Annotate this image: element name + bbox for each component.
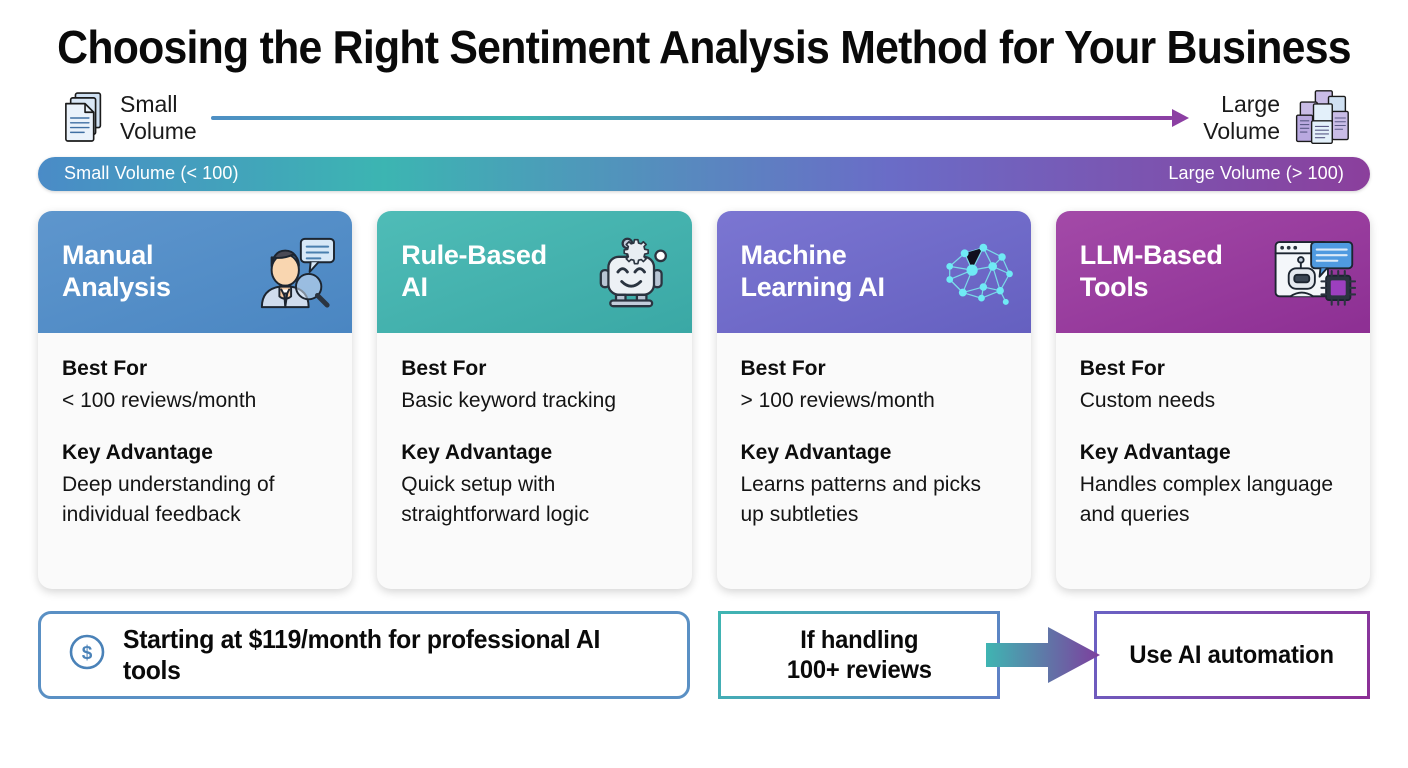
- best-for-label: Best For: [62, 357, 328, 381]
- svg-text:$: $: [82, 643, 93, 664]
- pricing-callout[interactable]: $ Starting at $119/month for professiona…: [38, 611, 690, 699]
- card-body: Best For Custom needs Key Advantage Hand…: [1056, 333, 1370, 589]
- key-advantage-label: Key Advantage: [1080, 441, 1346, 465]
- spectrum-left-endcap: Small Volume: [62, 90, 197, 146]
- documents-small-stack-icon: [62, 90, 110, 146]
- card-header: Rule-Based AI: [377, 211, 691, 333]
- spectrum-arrow: [211, 108, 1190, 128]
- best-for-label: Best For: [741, 357, 1007, 381]
- volume-bar-right-label: Large Volume (> 100): [1168, 163, 1344, 184]
- pricing-text: Starting at $119/month for professional …: [123, 624, 634, 686]
- flow-result-text: Use AI automation: [1130, 640, 1334, 670]
- card-body: Best For Basic keyword tracking Key Adva…: [377, 333, 691, 589]
- chatbot-window-chip-icon: [1270, 231, 1356, 313]
- robot-gear-icon: [592, 231, 678, 313]
- arrow-head-icon: [1172, 109, 1189, 127]
- card-title: LLM-Based Tools: [1080, 240, 1223, 304]
- spectrum-right-endcap: Large Volume: [1203, 87, 1352, 149]
- card-title: Rule-Based AI: [401, 240, 547, 304]
- card-header: Manual Analysis: [38, 211, 352, 333]
- card-body: Best For > 100 reviews/month Key Advanta…: [717, 333, 1031, 589]
- method-card-llm-based-tools[interactable]: LLM-Based Tools: [1056, 211, 1370, 589]
- block-arrow-right-icon: [986, 625, 1102, 685]
- key-advantage-label: Key Advantage: [62, 441, 328, 465]
- volume-range-bar: Small Volume (< 100) Large Volume (> 100…: [38, 157, 1370, 191]
- right-arrow-icon: [211, 116, 1174, 120]
- spectrum-right-label: Large Volume: [1203, 91, 1280, 144]
- method-card-machine-learning-ai[interactable]: Machine Learning AI: [717, 211, 1031, 589]
- flow-condition-text: If handling 100+ reviews: [787, 625, 932, 685]
- flow-condition-box[interactable]: If handling 100+ reviews: [718, 611, 1000, 699]
- card-title: Manual Analysis: [62, 240, 171, 304]
- best-for-label: Best For: [401, 357, 667, 381]
- neural-network-brain-icon: [931, 231, 1017, 313]
- best-for-value: Custom needs: [1080, 386, 1346, 416]
- footer-row: $ Starting at $119/month for professiona…: [0, 589, 1408, 699]
- best-for-value: < 100 reviews/month: [62, 386, 328, 416]
- key-advantage-value: Quick setup with straightforward logic: [401, 470, 667, 530]
- method-card-rule-based-ai[interactable]: Rule-Based AI: [377, 211, 691, 589]
- documents-large-stack-icon: [1290, 87, 1352, 149]
- card-header: Machine Learning AI: [717, 211, 1031, 333]
- card-title: Machine Learning AI: [741, 240, 885, 304]
- best-for-value: > 100 reviews/month: [741, 386, 1007, 416]
- key-advantage-value: Learns patterns and picks up subtleties: [741, 470, 1007, 530]
- page-title: Choosing the Right Sentiment Analysis Me…: [49, 0, 1358, 73]
- key-advantage-value: Deep understanding of individual feedbac…: [62, 470, 328, 530]
- flow-result-box[interactable]: Use AI automation: [1094, 611, 1370, 699]
- best-for-value: Basic keyword tracking: [401, 386, 667, 416]
- best-for-label: Best For: [1080, 357, 1346, 381]
- card-header: LLM-Based Tools: [1056, 211, 1370, 333]
- decision-flow: If handling 100+ reviews Use AI automati…: [718, 611, 1370, 699]
- key-advantage-label: Key Advantage: [401, 441, 667, 465]
- dollar-circle-icon: $: [67, 632, 107, 677]
- volume-bar-left-label: Small Volume (< 100): [64, 163, 239, 184]
- volume-spectrum-row: Small Volume Large Volume: [0, 73, 1408, 149]
- key-advantage-label: Key Advantage: [741, 441, 1007, 465]
- person-magnifier-icon: [252, 231, 338, 313]
- method-cards: Manual Analysis: [0, 191, 1408, 589]
- card-body: Best For < 100 reviews/month Key Advanta…: [38, 333, 352, 589]
- key-advantage-value: Handles complex language and queries: [1080, 470, 1346, 530]
- method-card-manual-analysis[interactable]: Manual Analysis: [38, 211, 352, 589]
- spectrum-left-label: Small Volume: [120, 91, 197, 144]
